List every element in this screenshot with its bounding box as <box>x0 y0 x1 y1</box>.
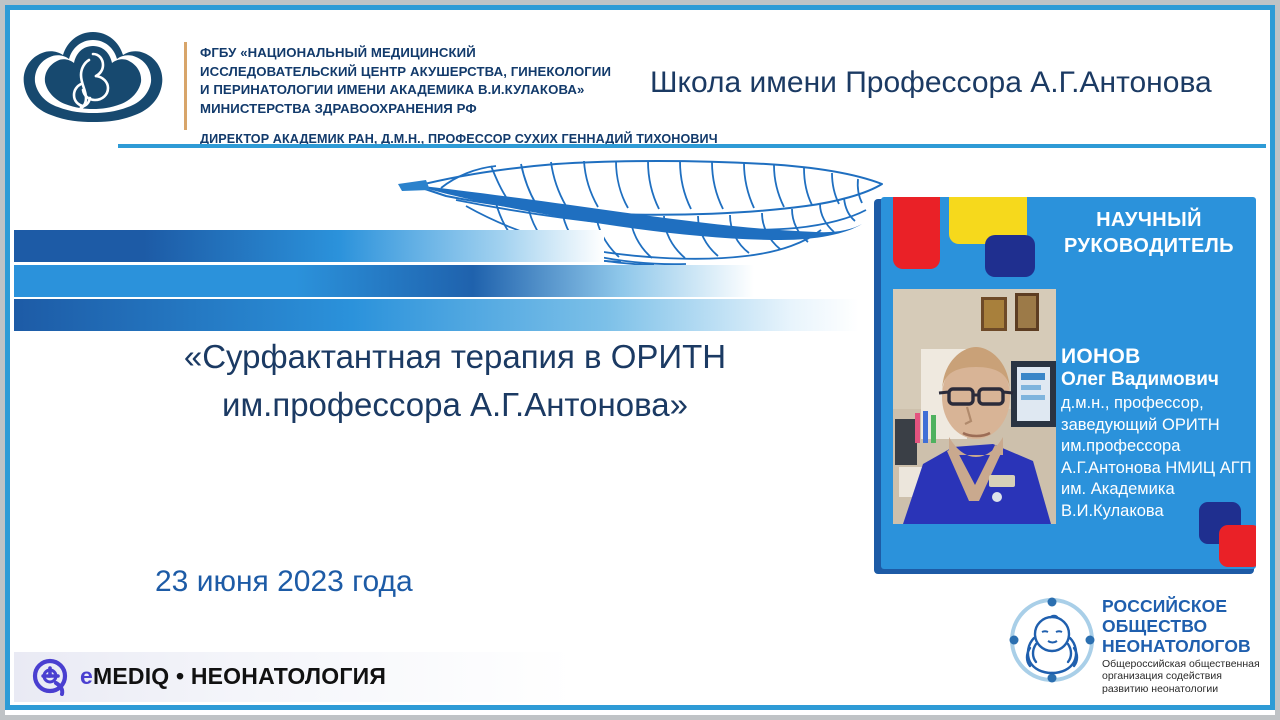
speaker-name: ИОНОВ Олег Вадимович <box>1061 345 1251 391</box>
presentation-title: «Сурфактантная терапия в ОРИТН им.профес… <box>60 333 850 429</box>
footer-brand-bar: eMEDIQ • НЕОНАТОЛОГИЯ <box>14 652 574 702</box>
school-title: Школа имени Профессора А.Г.Антонова <box>650 66 1212 100</box>
gradient-bar <box>14 299 859 331</box>
decor-square-red <box>1219 525 1256 567</box>
organization-line: МИНИСТЕРСТВА ЗДРАВООХРАНЕНИЯ РФ <box>200 100 630 119</box>
gradient-bar <box>14 265 754 297</box>
brand-e-letter: e <box>80 663 93 689</box>
organization-line: ИССЛЕДОВАТЕЛЬСКИЙ ЦЕНТР АКУШЕРСТВА, ГИНЕ… <box>200 63 630 82</box>
speaker-role-heading: НАУЧНЫЙ РУКОВОДИТЕЛЬ <box>1049 207 1249 259</box>
decor-square-navy <box>985 235 1035 277</box>
gradient-bar <box>14 230 604 262</box>
slide-header: ФГБУ «НАЦИОНАЛЬНЫЙ МЕДИЦИНСКИЙ ИССЛЕДОВА… <box>14 14 1266 154</box>
organization-line: И ПЕРИНАТОЛОГИИ ИМЕНИ АКАДЕМИКА В.И.КУЛА… <box>200 81 630 100</box>
organization-name: ФГБУ «НАЦИОНАЛЬНЫЙ МЕДИЦИНСКИЙ ИССЛЕДОВА… <box>200 44 630 118</box>
speaker-given-name: Олег Вадимович <box>1061 368 1251 391</box>
society-logo: РОССИЙСКОЕ ОБЩЕСТВО НЕОНАТОЛОГОВ Общерос… <box>1006 592 1264 698</box>
organization-line: ФГБУ «НАЦИОНАЛЬНЫЙ МЕДИЦИНСКИЙ <box>200 44 630 63</box>
speaker-portrait <box>893 289 1056 524</box>
society-title: РОССИЙСКОЕ ОБЩЕСТВО НЕОНАТОЛОГОВ <box>1102 596 1264 656</box>
presentation-date: 23 июня 2023 года <box>60 565 760 599</box>
speaker-card: НАУЧНЫЙ РУКОВОДИТЕЛЬ <box>881 197 1256 569</box>
speaker-surname: ИОНОВ <box>1061 345 1251 368</box>
society-subtitle: Общероссийская общественная организация … <box>1102 658 1266 695</box>
header-divider <box>184 42 187 130</box>
emediq-circle-e-icon <box>30 656 74 698</box>
decor-square-red <box>893 197 940 269</box>
presentation-slide: ФГБУ «НАЦИОНАЛЬНЫЙ МЕДИЦИНСКИЙ ИССЛЕДОВА… <box>0 0 1280 720</box>
brand-main-text: MEDIQ • НЕОНАТОЛОГИЯ <box>93 663 386 689</box>
footer-brand-text: eMEDIQ • НЕОНАТОЛОГИЯ <box>80 663 386 690</box>
speaker-description: д.м.н., профессор, заведующий ОРИТН им.п… <box>1061 393 1256 522</box>
baby-in-hands-icon <box>1006 594 1098 686</box>
header-rule <box>118 144 1266 148</box>
decorative-gradient-bars <box>14 230 874 332</box>
mother-and-child-emblem-icon <box>18 26 168 144</box>
